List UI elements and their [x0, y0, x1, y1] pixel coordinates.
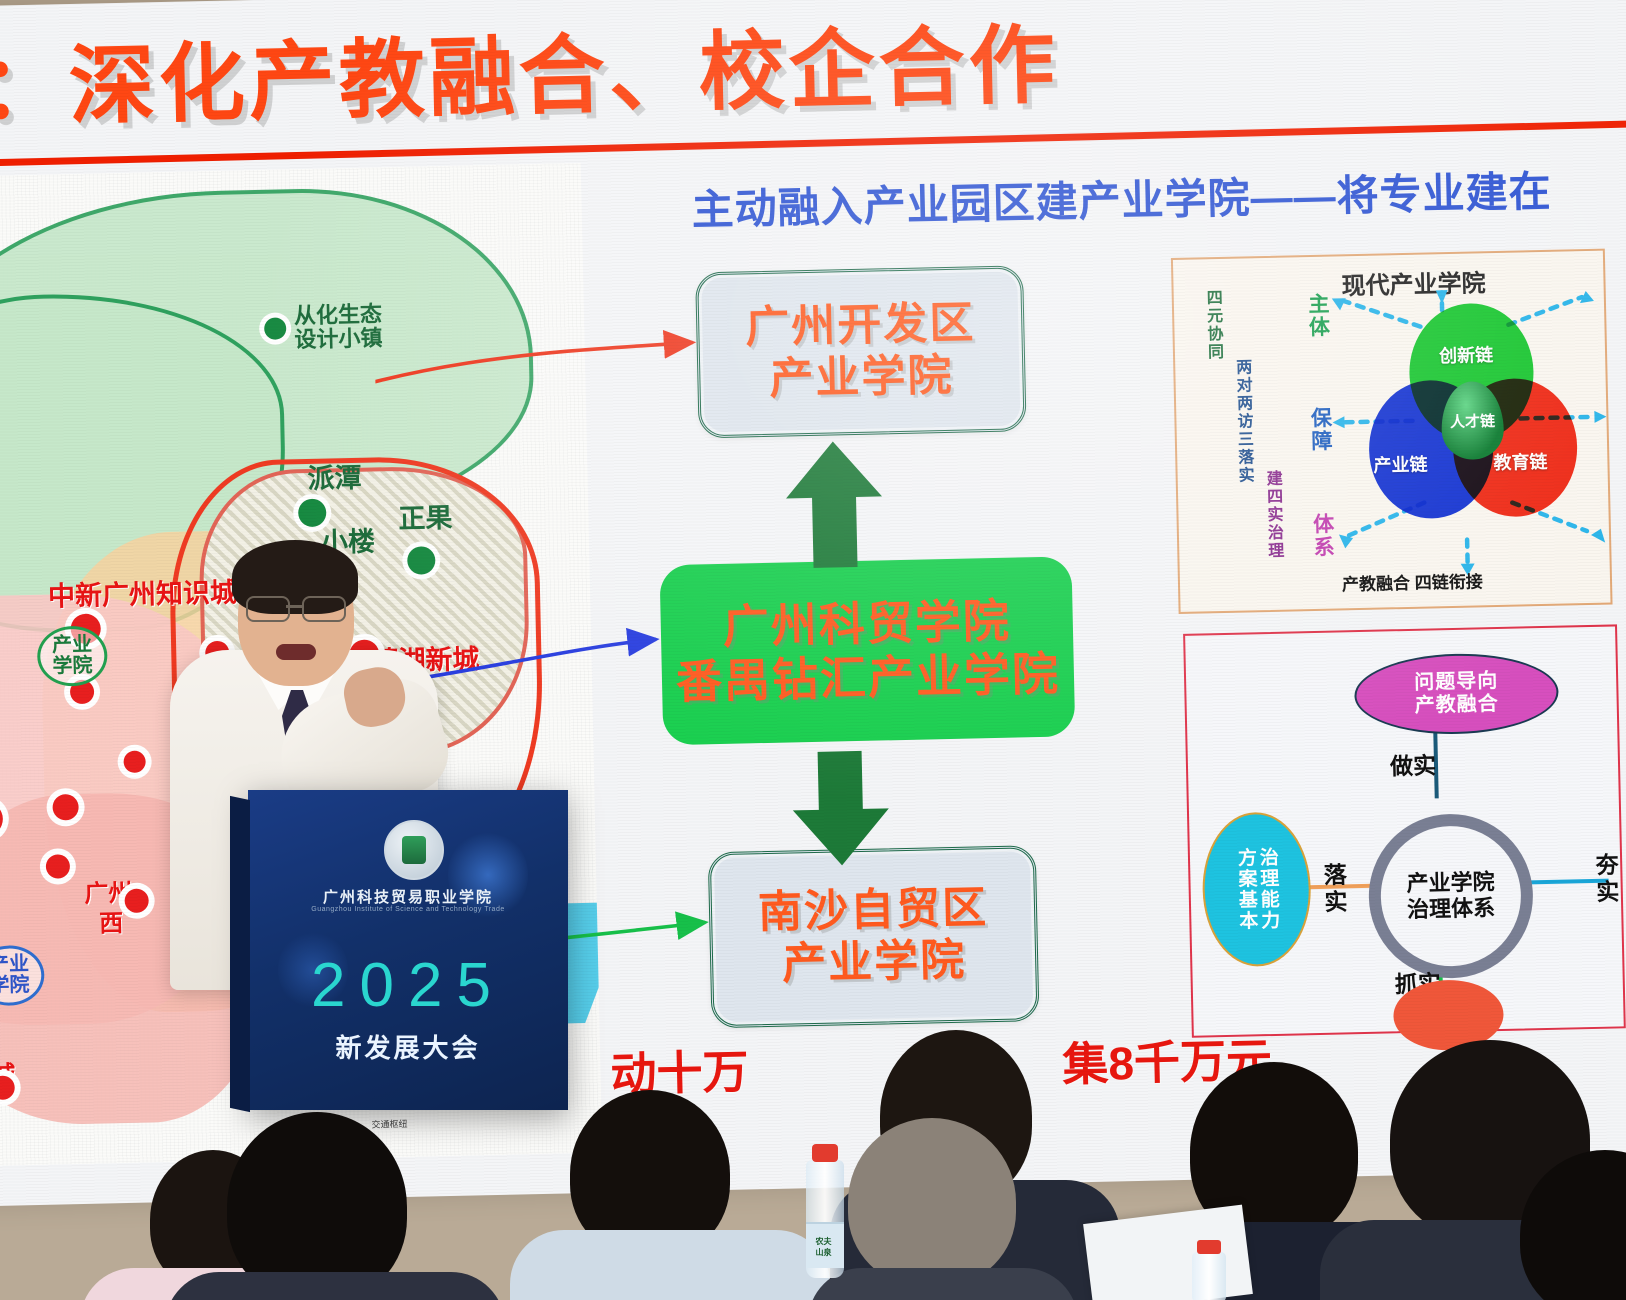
slide-subtitle: 主动融入产业园区建产业学院——将专业建在 — [691, 156, 1626, 238]
bottle-cap — [812, 1144, 838, 1162]
bottle-cap — [1197, 1240, 1221, 1254]
map-pill-1-line1: 产业 — [52, 635, 92, 657]
speaker-mouth — [276, 644, 316, 660]
arrow-down-green — [782, 748, 901, 869]
venn-label-innovation: 创新链 — [1439, 341, 1494, 368]
map-pill-2-line1: 产业 — [0, 954, 29, 976]
map-pill-1-line2: 学院 — [52, 656, 92, 678]
gov-left-vertical-1: 方案基本 — [1234, 847, 1258, 931]
audience-head — [1520, 1150, 1626, 1300]
water-bottle-1: 农夫山泉 — [806, 1160, 844, 1278]
lectern-podium: 广州科技贸易职业学院 Guangzhou Institute of Scienc… — [248, 790, 568, 1110]
venn-label-talent: 人才链 — [1450, 410, 1495, 432]
glasses-icon — [246, 596, 350, 618]
modern-industry-college-venn-panel: 现代产业学院 四元协同 两对两访三落实 建四实治理 主体 保障 体系 — [1171, 249, 1613, 614]
venn-label-education: 教育链 — [1493, 448, 1548, 475]
podium-school-name: 广州科技贸易职业学院 — [248, 886, 568, 907]
arrow-to-kaifaqu — [374, 343, 695, 421]
map-label-west: 西 — [99, 903, 124, 939]
venn-bottom-caption: 产教融合 四链衔接 — [1342, 567, 1483, 595]
flow-box-nansha-line1: 南沙自贸区 — [758, 882, 989, 939]
venn-left-outer-1: 四元协同 — [1200, 289, 1226, 362]
audience-shoulders — [510, 1230, 830, 1300]
governance-system-panel: 问题导向 产教融合 方案基本 治理能力 产业学院 治理体系 做实 落实 — [1183, 624, 1626, 1037]
map-label-conghua-line2: 设计小镇 — [294, 325, 383, 352]
map-label-conghua-line1: 从化生态 — [294, 301, 383, 328]
podium-event-name: 新发展大会 — [248, 1028, 568, 1065]
audience-member-3 — [520, 1090, 820, 1300]
bottle-label: 农夫山泉 — [806, 1222, 844, 1268]
audience-member-5 — [818, 1118, 1068, 1300]
flow-box-nansha-line2: 产业学院 — [782, 935, 967, 991]
gov-left-vertical-2: 治理能力 — [1256, 847, 1280, 931]
gov-label-right: 夯实 — [1588, 852, 1623, 907]
podium-school-name-en: Guangzhou Institute of Science and Techn… — [248, 906, 568, 913]
map-label-paitan: 派潭 — [307, 456, 362, 496]
audience-shoulders — [808, 1268, 1078, 1300]
bottle-brand: 农夫山泉 — [816, 1236, 835, 1258]
arrow-up-green — [775, 438, 894, 570]
map-pill-2-line2: 学院 — [0, 975, 30, 997]
slide-title: 持：深化产教融合、校企合作 — [0, 0, 1390, 145]
podium-side-panel — [230, 796, 250, 1112]
audience-head — [848, 1118, 1016, 1286]
photo-of-conference-presentation: 持：深化产教融合、校企合作 主动融入产业园区建产业学院——将专业建在 北部山林生… — [0, 0, 1626, 1300]
gov-label-left: 落实 — [1316, 862, 1351, 917]
audience-shoulders — [165, 1272, 505, 1300]
gov-core-line2: 治理体系 — [1407, 895, 1496, 923]
audience-member-2 — [185, 1112, 485, 1300]
school-crest-icon — [384, 820, 444, 880]
gov-top-line1: 问题导向 — [1414, 670, 1498, 695]
gov-label-top: 做实 — [1390, 746, 1437, 781]
flow-box-kemao-line1: 广州科贸学院 — [722, 593, 1011, 654]
flow-box-kaifaqu-line1: 广州开发区 — [745, 297, 976, 354]
audience-member-8 — [1500, 1150, 1626, 1300]
venn-label-industry: 产业链 — [1373, 451, 1428, 478]
venn-left-outer-3: 建四实治理 — [1260, 470, 1286, 561]
flow-box-kaifaqu-line2: 产业学院 — [769, 350, 954, 406]
venn-left-outer-2: 两对两访三落实 — [1229, 358, 1256, 484]
podium-year: 2025 — [248, 950, 568, 1021]
water-bottle-2 — [1192, 1252, 1226, 1300]
gov-core-line1: 产业学院 — [1406, 869, 1495, 897]
gov-top-line2: 产教融合 — [1414, 693, 1498, 718]
